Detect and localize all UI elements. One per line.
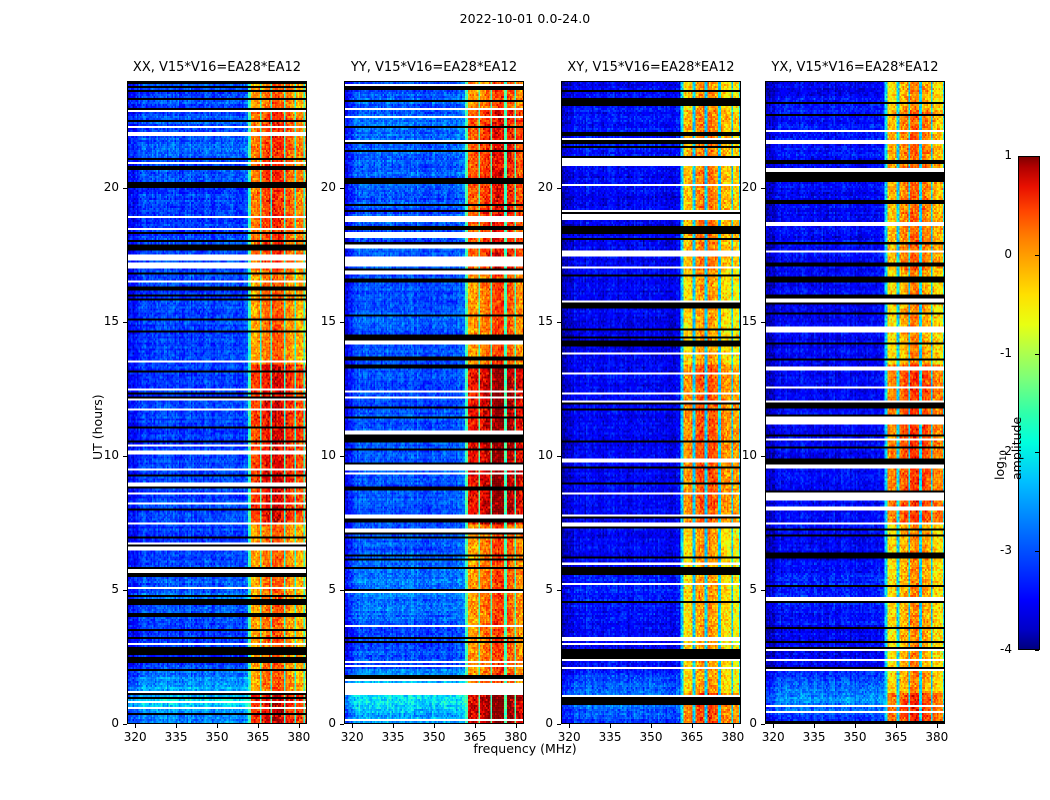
colorbar-tick-label: -4 bbox=[986, 642, 1012, 656]
x-tick-mark bbox=[434, 724, 435, 728]
x-tick-mark bbox=[773, 724, 774, 728]
x-tick-mark bbox=[692, 724, 693, 728]
y-tick-mark bbox=[123, 724, 127, 725]
x-tick-label: 380 bbox=[496, 730, 536, 744]
x-tick-label: 335 bbox=[156, 730, 196, 744]
x-tick-label: 320 bbox=[115, 730, 155, 744]
x-tick-mark bbox=[651, 724, 652, 728]
y-tick-label: 15 bbox=[723, 314, 757, 328]
x-tick-mark bbox=[814, 724, 815, 728]
heatmap-panel-xx[interactable] bbox=[127, 81, 307, 724]
colorbar-tick-label: -2 bbox=[986, 444, 1012, 458]
figure-suptitle: 2022-10-01 0.0-24.0 bbox=[0, 11, 1050, 26]
x-tick-mark bbox=[475, 724, 476, 728]
y-tick-mark bbox=[340, 590, 344, 591]
noise-texture bbox=[345, 82, 523, 723]
y-tick-mark bbox=[557, 322, 561, 323]
noise-texture bbox=[766, 82, 944, 723]
y-tick-mark bbox=[761, 724, 765, 725]
x-tick-label: 350 bbox=[414, 730, 454, 744]
x-tick-label: 335 bbox=[794, 730, 834, 744]
y-tick-label: 20 bbox=[302, 180, 336, 194]
y-tick-label: 20 bbox=[723, 180, 757, 194]
noise-texture bbox=[562, 82, 740, 723]
y-tick-label: 20 bbox=[85, 180, 119, 194]
x-tick-mark bbox=[610, 724, 611, 728]
colorbar-tick-label: 1 bbox=[986, 148, 1012, 162]
x-tick-label: 365 bbox=[455, 730, 495, 744]
colorbar-tick-mark bbox=[1035, 354, 1039, 355]
x-tick-mark bbox=[393, 724, 394, 728]
y-tick-label: 10 bbox=[302, 448, 336, 462]
x-tick-label: 380 bbox=[917, 730, 957, 744]
colorbar-tick-label: -1 bbox=[986, 346, 1012, 360]
x-tick-mark bbox=[135, 724, 136, 728]
y-tick-mark bbox=[123, 456, 127, 457]
y-tick-mark bbox=[340, 322, 344, 323]
heatmap-panel-yy[interactable] bbox=[344, 81, 524, 724]
y-tick-mark bbox=[123, 188, 127, 189]
x-tick-label: 380 bbox=[713, 730, 753, 744]
y-tick-mark bbox=[761, 322, 765, 323]
y-tick-label: 15 bbox=[85, 314, 119, 328]
y-tick-label: 0 bbox=[519, 716, 553, 730]
y-tick-mark bbox=[340, 188, 344, 189]
x-tick-mark bbox=[896, 724, 897, 728]
colorbar-tick-mark bbox=[1035, 255, 1039, 256]
x-tick-label: 335 bbox=[373, 730, 413, 744]
colorbar-tick-mark bbox=[1035, 452, 1039, 453]
y-tick-label: 0 bbox=[85, 716, 119, 730]
y-tick-label: 15 bbox=[302, 314, 336, 328]
x-tick-mark bbox=[569, 724, 570, 728]
x-tick-label: 365 bbox=[876, 730, 916, 744]
y-tick-label: 5 bbox=[723, 582, 757, 596]
panel-title-yx: YX, V15*V16=EA28*EA12 bbox=[725, 60, 985, 75]
x-tick-label: 320 bbox=[753, 730, 793, 744]
colorbar-tick-label: 0 bbox=[986, 247, 1012, 261]
y-tick-label: 15 bbox=[519, 314, 553, 328]
y-tick-mark bbox=[761, 590, 765, 591]
colorbar[interactable] bbox=[1018, 156, 1040, 650]
y-tick-label: 5 bbox=[302, 582, 336, 596]
x-tick-label: 350 bbox=[631, 730, 671, 744]
x-tick-label: 365 bbox=[672, 730, 712, 744]
y-tick-mark bbox=[761, 456, 765, 457]
y-tick-mark bbox=[123, 322, 127, 323]
y-tick-label: 5 bbox=[519, 582, 553, 596]
y-tick-label: 10 bbox=[519, 448, 553, 462]
y-tick-mark bbox=[557, 456, 561, 457]
y-tick-label: 5 bbox=[85, 582, 119, 596]
y-tick-mark bbox=[123, 590, 127, 591]
x-tick-label: 335 bbox=[590, 730, 630, 744]
x-tick-label: 365 bbox=[238, 730, 278, 744]
y-tick-mark bbox=[557, 188, 561, 189]
y-tick-mark bbox=[340, 456, 344, 457]
x-tick-label: 320 bbox=[332, 730, 372, 744]
noise-texture bbox=[128, 82, 306, 723]
y-tick-label: 0 bbox=[723, 716, 757, 730]
y-tick-mark bbox=[557, 590, 561, 591]
y-tick-label: 0 bbox=[302, 716, 336, 730]
x-tick-label: 350 bbox=[197, 730, 237, 744]
heatmap-panel-xy[interactable] bbox=[561, 81, 741, 724]
x-tick-label: 380 bbox=[279, 730, 319, 744]
colorbar-tick-label: -3 bbox=[986, 543, 1012, 557]
colorbar-tick-mark bbox=[1035, 156, 1039, 157]
x-tick-label: 320 bbox=[549, 730, 589, 744]
heatmap-panel-yx[interactable] bbox=[765, 81, 945, 724]
y-tick-label: 10 bbox=[85, 448, 119, 462]
spectrum-figure: 2022-10-01 0.0-24.0 XX, V15*V16=EA28*EA1… bbox=[0, 0, 1050, 800]
x-tick-mark bbox=[937, 724, 938, 728]
y-tick-mark bbox=[340, 724, 344, 725]
colorbar-tick-mark bbox=[1035, 650, 1039, 651]
colorbar-tick-mark bbox=[1035, 551, 1039, 552]
x-tick-mark bbox=[855, 724, 856, 728]
x-tick-mark bbox=[352, 724, 353, 728]
y-tick-label: 10 bbox=[723, 448, 757, 462]
y-tick-mark bbox=[761, 188, 765, 189]
x-tick-label: 350 bbox=[835, 730, 875, 744]
x-tick-mark bbox=[299, 724, 300, 728]
colorbar-label-main: log bbox=[992, 461, 1007, 480]
x-tick-mark bbox=[258, 724, 259, 728]
x-tick-mark bbox=[176, 724, 177, 728]
y-tick-mark bbox=[557, 724, 561, 725]
x-tick-mark bbox=[516, 724, 517, 728]
y-tick-label: 20 bbox=[519, 180, 553, 194]
x-tick-mark bbox=[217, 724, 218, 728]
